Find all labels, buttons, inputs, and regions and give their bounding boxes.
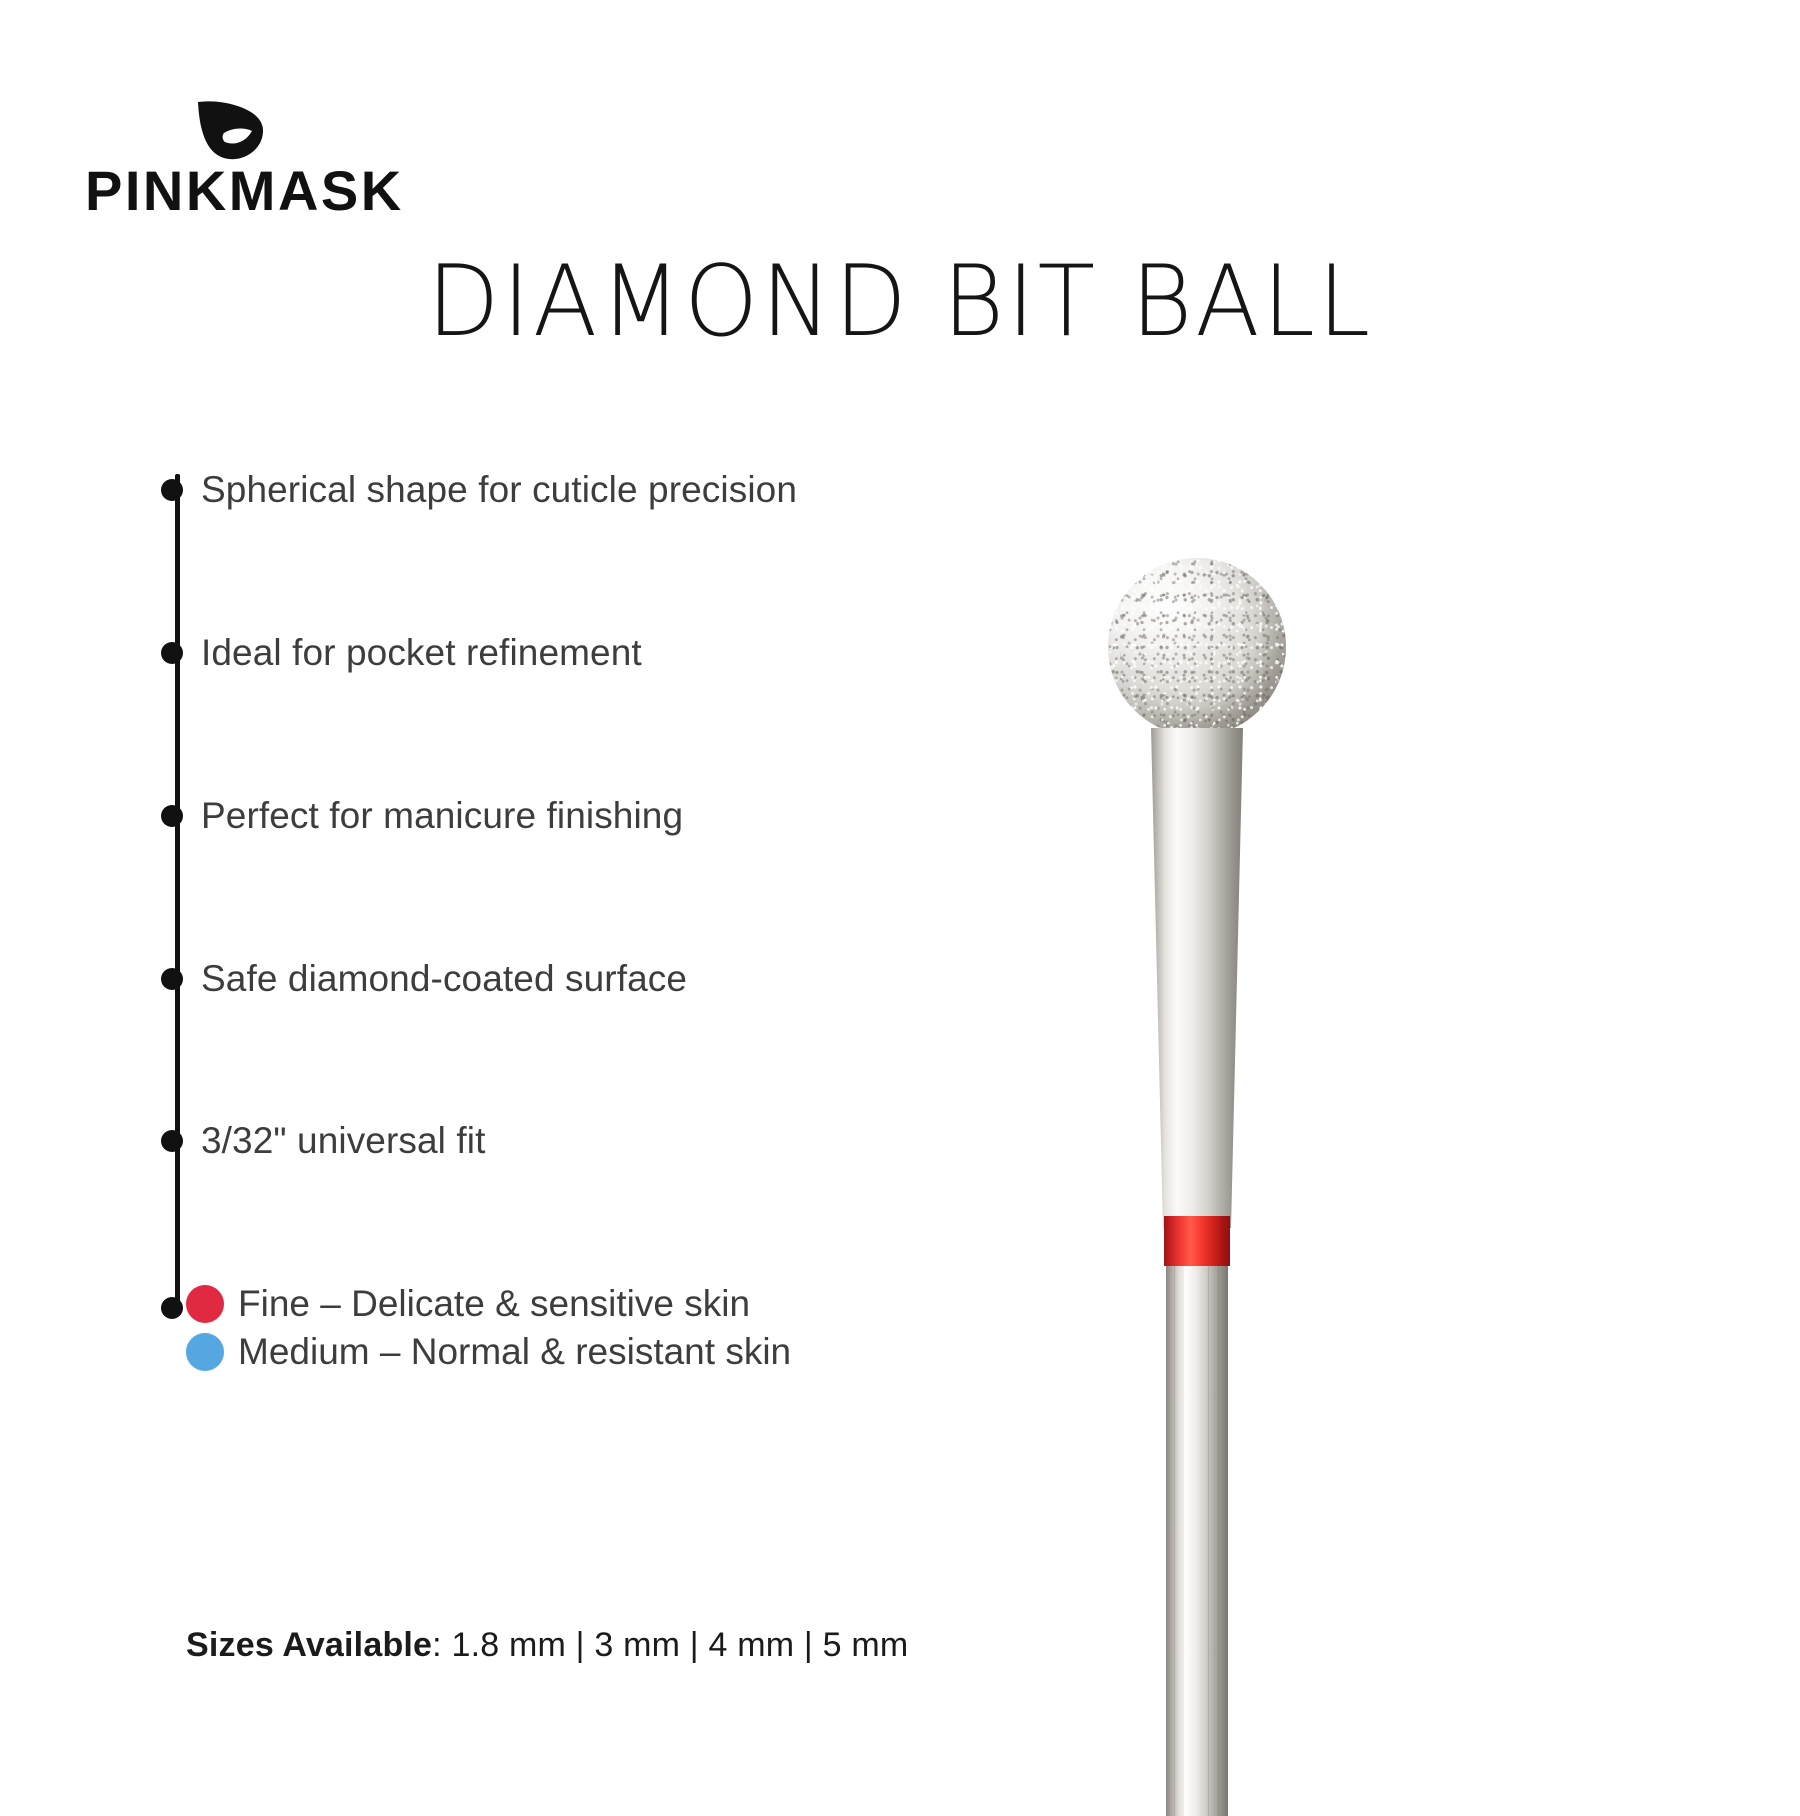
list-item: Perfect for manicure finishing [161,796,683,836]
timeline-dot-icon [161,1297,183,1319]
timeline-dot-icon [161,642,183,664]
leaf-mask-icon [196,100,266,162]
grit-color-fine-icon [186,1285,224,1323]
timeline-dot-icon [161,968,183,990]
grit-legend: Fine – Delicate & sensitive skin Medium … [186,1280,906,1376]
bit-neck [1147,728,1247,1228]
list-item: Safe diamond-coated surface [161,959,687,999]
list-item: Spherical shape for cuticle precision [161,470,797,510]
sizes-available: Sizes Available: 1.8 mm | 3 mm | 4 mm | … [186,1625,908,1665]
diamond-grit-texture [1108,558,1286,736]
sizes-label: Sizes Available [186,1626,432,1664]
feature-timeline: Spherical shape for cuticle precision Id… [175,470,935,1320]
sizes-values: : 1.8 mm | 3 mm | 4 mm | 5 mm [432,1626,908,1664]
bit-grit-band-red [1164,1216,1230,1266]
timeline-dot-icon [161,805,183,827]
brand-logo: PINKMASK [85,100,415,215]
grit-legend-row-medium: Medium – Normal & resistant skin [186,1328,906,1376]
bit-shank-lower [1166,1266,1228,1811]
feature-label: Ideal for pocket refinement [201,633,642,673]
list-item-end [161,1288,183,1328]
feature-label: Spherical shape for cuticle precision [201,470,797,510]
grit-color-medium-icon [186,1333,224,1371]
feature-label: Perfect for manicure finishing [201,796,683,836]
timeline-dot-icon [161,1130,183,1152]
timeline-dot-icon [161,479,183,501]
bit-ball-head [1108,558,1286,736]
timeline-axis-line [175,474,180,1306]
list-item: 3/32" universal fit [161,1121,485,1161]
feature-label: Safe diamond-coated surface [201,959,687,999]
grit-label-medium: Medium – Normal & resistant skin [238,1332,791,1372]
list-item: Ideal for pocket refinement [161,633,642,673]
grit-label-fine: Fine – Delicate & sensitive skin [238,1284,750,1324]
page-title: DIAMOND BIT BALL [36,252,1764,352]
grit-legend-row-fine: Fine – Delicate & sensitive skin [186,1280,906,1328]
product-image-diamond-ball-bit [1040,540,1400,1810]
feature-label: 3/32" universal fit [201,1121,485,1161]
brand-wordmark: PINKMASK [85,162,404,220]
